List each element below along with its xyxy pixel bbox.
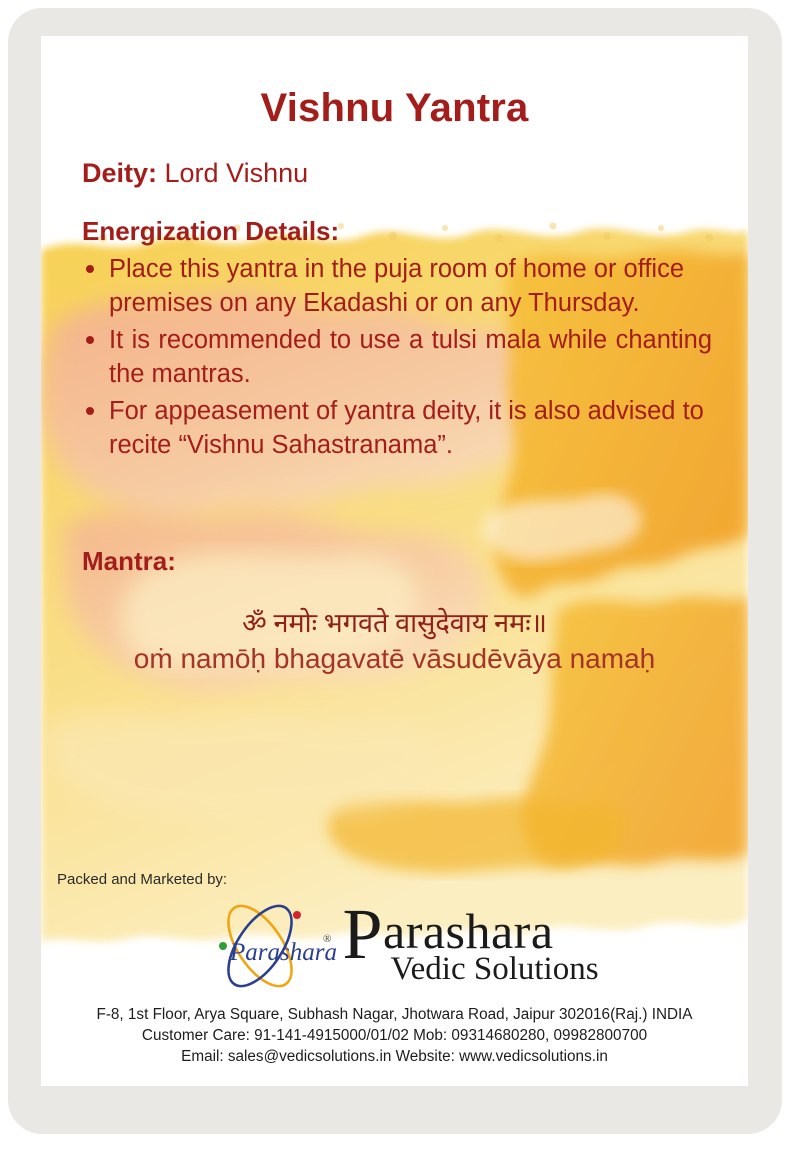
bullet-dot-icon [86, 265, 94, 273]
card-surface: Vishnu Yantra Deity: Lord Vishnu Energiz… [41, 36, 748, 1086]
deity-label: Deity: [82, 158, 157, 188]
list-item: It is recommended to use a tulsi mala wh… [82, 323, 712, 391]
page-title: Vishnu Yantra [41, 86, 748, 131]
list-item: For appeasement of yantra deity, it is a… [82, 394, 712, 462]
address-line: F-8, 1st Floor, Arya Square, Subhash Nag… [41, 1004, 748, 1025]
bullet-dot-icon [86, 407, 94, 415]
yantra-card-page: Vishnu Yantra Deity: Lord Vishnu Energiz… [0, 0, 790, 1150]
logo-script-text: Parashara [229, 939, 337, 966]
energization-heading: Energization Details: [82, 216, 339, 247]
energization-bullet-list: Place this yantra in the puja room of ho… [82, 252, 712, 465]
mantra-devanagari: ॐ नमोः भगवते वासुदेवाय नमः॥ [41, 603, 748, 640]
parashara-wordmark: Parashara Vedic Solutions [342, 906, 598, 986]
list-item-text: It is recommended to use a tulsi mala wh… [109, 326, 712, 388]
list-item: Place this yantra in the puja room of ho… [82, 252, 712, 320]
mantra-heading: Mantra: [82, 546, 176, 577]
deity-line: Deity: Lord Vishnu [82, 158, 308, 189]
parashara-atom-logo-icon: Parashara ® [190, 896, 338, 996]
logo-red-dot [293, 911, 301, 919]
address-line: Email: sales@vedicsolutions.in Website: … [41, 1046, 748, 1067]
company-address-block: F-8, 1st Floor, Arya Square, Subhash Nag… [41, 1004, 748, 1067]
bullet-dot-icon [86, 336, 94, 344]
wordmark-subtitle: Vedic Solutions [390, 953, 598, 986]
registered-trademark-icon: ® [323, 933, 331, 945]
packed-and-marketed-by-label: Packed and Marketed by: [57, 871, 227, 888]
address-line: Customer Care: 91-141-4915000/01/02 Mob:… [41, 1025, 748, 1046]
deity-value: Lord Vishnu [157, 158, 308, 188]
list-item-text: Place this yantra in the puja room of ho… [109, 255, 684, 317]
logo-green-dot [219, 942, 227, 950]
mantra-transliteration: oṁ namōḥ bhagavatē vāsudēvāya namaḥ [41, 643, 748, 675]
wordmark-initial: P [342, 894, 383, 974]
list-item-text: For appeasement of yantra deity, it is a… [109, 397, 704, 459]
brand-row: Parashara ® Parashara Vedic Solutions [41, 896, 748, 996]
